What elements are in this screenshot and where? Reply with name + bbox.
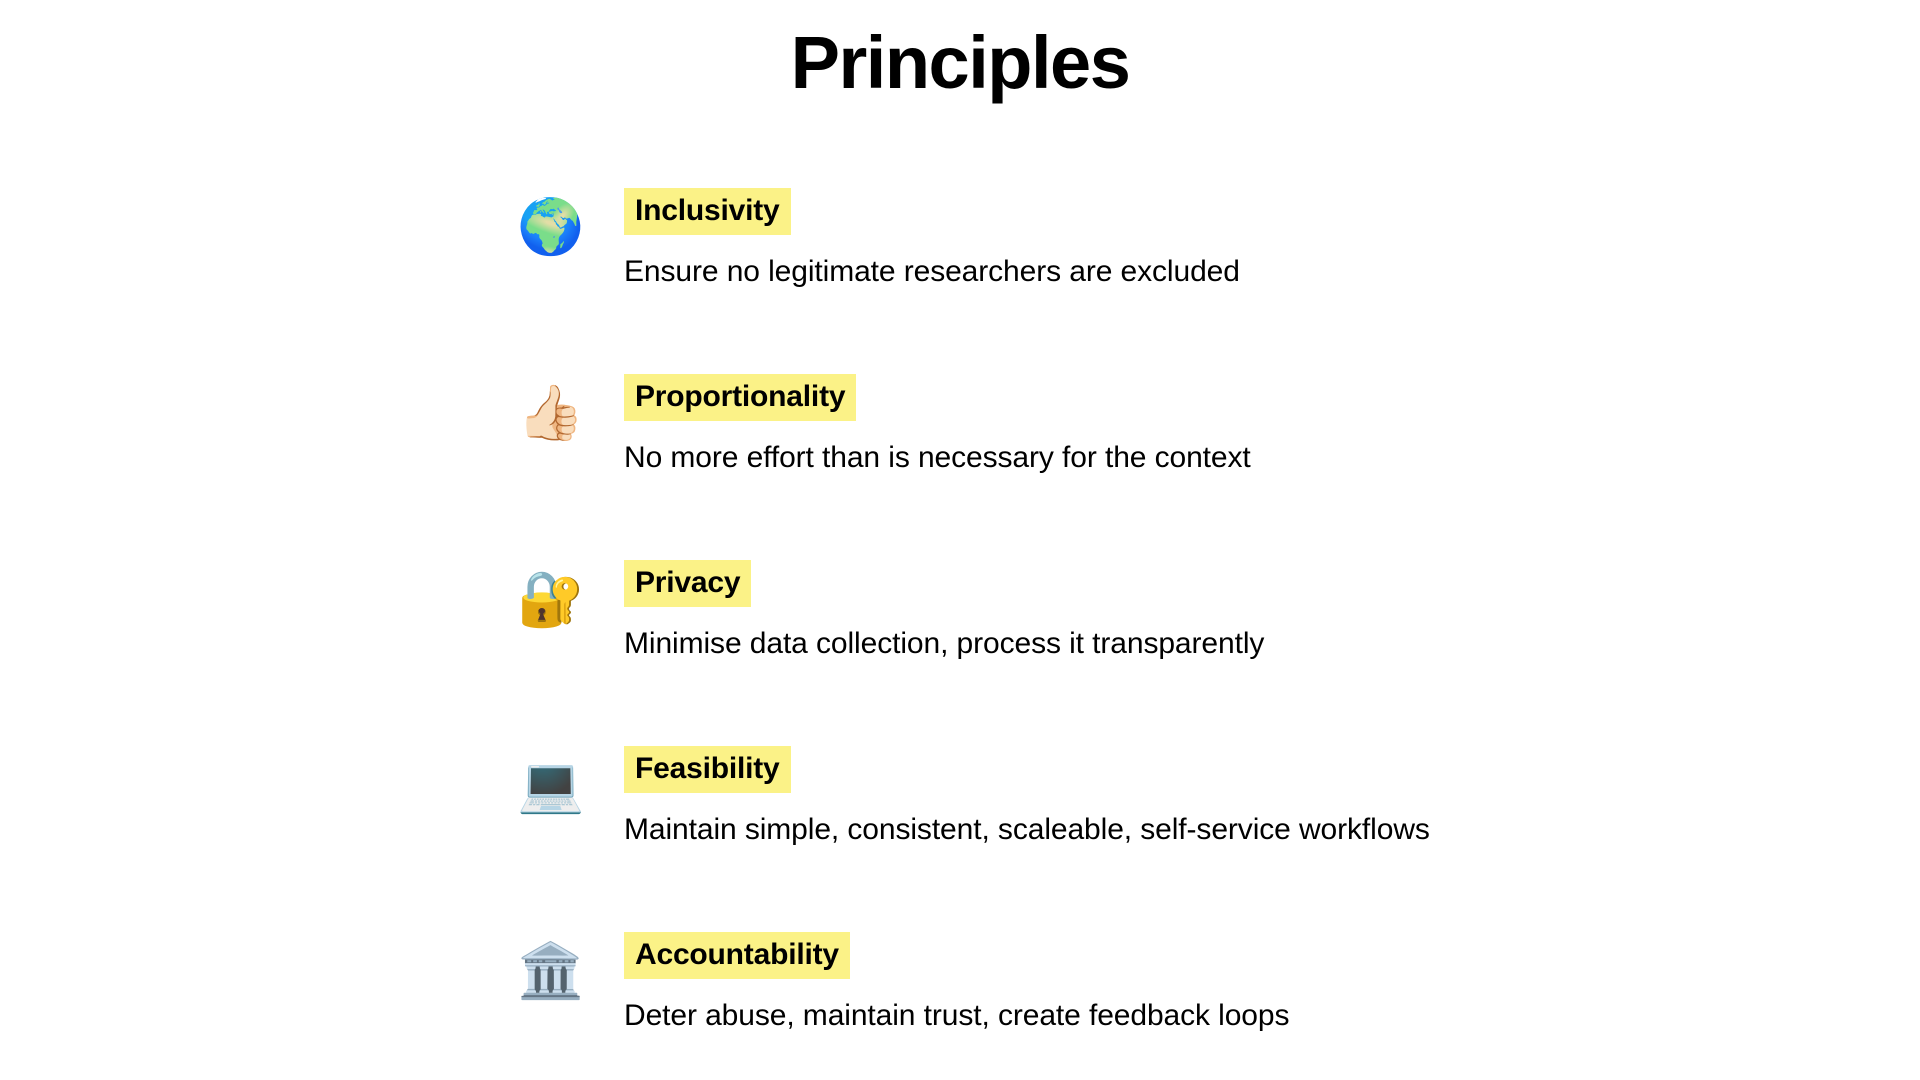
principle-body: Proportionality No more effort than is n…	[606, 372, 1776, 477]
list-item: 🔐 Privacy Minimise data collection, proc…	[496, 558, 1776, 744]
principle-body: Feasibility Maintain simple, consistent,…	[606, 744, 1776, 849]
principle-name: Accountability	[624, 932, 850, 979]
principle-body: Inclusivity Ensure no legitimate researc…	[606, 186, 1776, 291]
list-item: 💻 Feasibility Maintain simple, consisten…	[496, 744, 1776, 930]
principle-description: Ensure no legitimate researchers are exc…	[624, 252, 1776, 291]
principle-name-wrap: Accountability	[624, 932, 1776, 979]
list-item: 🌍 Inclusivity Ensure no legitimate resea…	[496, 186, 1776, 372]
page-title: Principles	[0, 24, 1920, 102]
principle-name-wrap: Proportionality	[624, 374, 1776, 421]
locked-with-key-icon: 🔐	[496, 558, 606, 626]
list-item: 👍🏻 Proportionality No more effort than i…	[496, 372, 1776, 558]
principle-name: Privacy	[624, 560, 751, 607]
principles-list: 🌍 Inclusivity Ensure no legitimate resea…	[496, 186, 1776, 1080]
principle-name-wrap: Privacy	[624, 560, 1776, 607]
principle-description: Deter abuse, maintain trust, create feed…	[624, 996, 1776, 1035]
list-item: 🏛️ Accountability Deter abuse, maintain …	[496, 930, 1776, 1080]
principle-name: Inclusivity	[624, 188, 791, 235]
principle-name: Feasibility	[624, 746, 791, 793]
principle-body: Privacy Minimise data collection, proces…	[606, 558, 1776, 663]
principle-description: Minimise data collection, process it tra…	[624, 624, 1776, 663]
thumbs-up-icon: 👍🏻	[496, 372, 606, 440]
principle-name-wrap: Inclusivity	[624, 188, 1776, 235]
laptop-magic-wand-icon: 💻	[496, 744, 606, 812]
principle-name-wrap: Feasibility	[624, 746, 1776, 793]
classical-building-icon: 🏛️	[496, 930, 606, 998]
principle-body: Accountability Deter abuse, maintain tru…	[606, 930, 1776, 1035]
slide-canvas: Principles 🌍 Inclusivity Ensure no legit…	[0, 0, 1920, 1080]
principle-name: Proportionality	[624, 374, 856, 421]
principle-description: Maintain simple, consistent, scaleable, …	[624, 810, 1776, 849]
principle-description: No more effort than is necessary for the…	[624, 438, 1776, 477]
globe-europe-africa-icon: 🌍	[496, 186, 606, 254]
